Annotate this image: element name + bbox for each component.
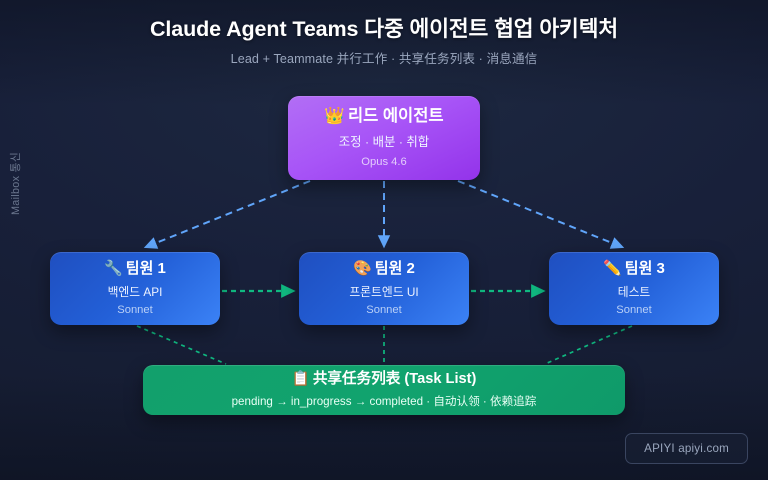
teammate-2-title: 🎨팀원 2 — [353, 260, 415, 278]
teammate-3-subtitle: 테스트 — [618, 285, 651, 299]
wrench-icon: 🔧 — [104, 260, 123, 277]
teammate-2-model: Sonnet — [366, 304, 401, 317]
teammate-3-model: Sonnet — [616, 304, 651, 317]
teammate-3-title: ✏️팀원 3 — [603, 260, 665, 278]
watermark-badge: APIYI apiyi.com — [625, 433, 748, 464]
teammate-3-title-text: 팀원 3 — [625, 260, 665, 277]
edge-teammate-1-to-tasklist — [137, 326, 226, 364]
teammate-1-title: 🔧팀원 1 — [104, 260, 166, 278]
lead-agent-title-text: 리드 에이전트 — [348, 107, 444, 125]
task-list-subtitle: pending → in_progress → completed · 自动认领… — [232, 395, 537, 409]
teammate-2-subtitle: 프론트엔드 UI — [349, 285, 418, 299]
page-subtitle: Lead + Teammate 并行工作 · 共享任务列表 · 消息通信 — [0, 52, 768, 67]
header: Claude Agent Teams 다중 에이전트 협업 아키텍처 Lead … — [0, 17, 768, 67]
palette-icon: 🎨 — [353, 260, 372, 277]
task-list-title-text: 共享任务列表 (Task List) — [313, 371, 477, 387]
lead-agent-subtitle: 조정 · 배분 · 취합 — [339, 135, 429, 150]
node-shared-task-list[interactable]: 📋共享任务列表 (Task List) pending → in_progres… — [143, 365, 625, 415]
teammate-1-model: Sonnet — [117, 304, 152, 317]
lead-agent-title: 👑리드 에이전트 — [324, 107, 443, 127]
pencil-icon: ✏️ — [603, 260, 622, 277]
node-teammate-3[interactable]: ✏️팀원 3 테스트 Sonnet — [549, 252, 719, 325]
task-list-title: 📋共享任务列表 (Task List) — [292, 371, 477, 389]
node-teammate-2[interactable]: 🎨팀원 2 프론트엔드 UI Sonnet — [299, 252, 469, 325]
page-title: Claude Agent Teams 다중 에이전트 협업 아키텍처 — [0, 17, 768, 43]
edge-lead-to-teammate-1 — [146, 181, 310, 247]
lead-agent-model: Opus 4.6 — [361, 156, 406, 169]
diagram-canvas: Claude Agent Teams 다중 에이전트 협업 아키텍처 Lead … — [0, 0, 768, 480]
teammate-2-title-text: 팀원 2 — [375, 260, 415, 277]
edge-teammate-3-to-tasklist — [545, 326, 632, 364]
teammate-1-subtitle: 백엔드 API — [108, 285, 163, 299]
clipboard-icon: 📋 — [292, 371, 310, 387]
node-lead-agent[interactable]: 👑리드 에이전트 조정 · 배분 · 취합 Opus 4.6 — [288, 96, 480, 180]
node-teammate-1[interactable]: 🔧팀원 1 백엔드 API Sonnet — [50, 252, 220, 325]
crown-icon: 👑 — [324, 107, 345, 125]
teammate-1-title-text: 팀원 1 — [126, 260, 166, 277]
edge-lead-to-teammate-3 — [458, 181, 622, 247]
mailbox-side-label: Mailbox 통신 — [7, 105, 23, 215]
